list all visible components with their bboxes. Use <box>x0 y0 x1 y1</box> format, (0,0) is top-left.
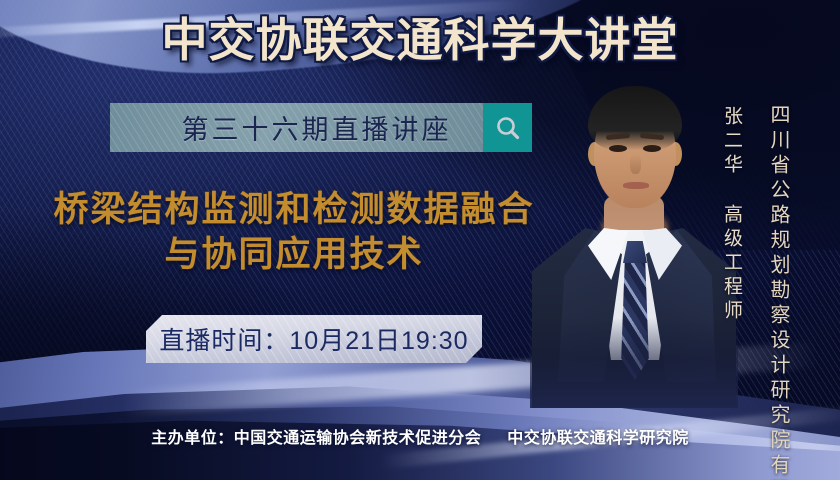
episode-banner-body: 第三十六期直播讲座 <box>110 103 483 152</box>
eye-left <box>609 145 627 152</box>
photo-bottom-fade <box>530 318 738 408</box>
webinar-poster: 中交协联交通科学大讲堂 第三十六期直播讲座 桥梁结构监测和检测数据融合 与协同应… <box>0 0 840 480</box>
topic-title-line-1: 桥梁结构监测和检测数据融合 <box>24 188 564 233</box>
broadcast-time-badge: 直播时间：10月21日19:30 <box>146 315 482 363</box>
footer-organizer-1: 中国交通运输协会新技术促进分会 <box>234 430 482 447</box>
speaker-name-and-title: 张二华 高级工程师 <box>718 106 745 324</box>
footer-organizers: 主办单位：中国交通运输协会新技术促进分会中交协联交通科学研究院 <box>0 424 840 448</box>
footer-organizer-2: 中交协联交通科学研究院 <box>507 430 689 447</box>
search-icon <box>494 114 522 142</box>
footer-prefix: 主办单位： <box>151 430 234 447</box>
search-button[interactable] <box>483 103 532 152</box>
episode-banner: 第三十六期直播讲座 <box>110 103 532 152</box>
mouth <box>623 182 649 189</box>
nose <box>630 154 641 174</box>
eye-right <box>643 145 661 152</box>
broadcast-time-text: 直播时间：10月21日19:30 <box>159 321 468 357</box>
episode-label: 第三十六期直播讲座 <box>142 108 452 147</box>
poster-headline: 中交协联交通科学大讲堂 <box>0 14 840 67</box>
hair-shape <box>588 86 682 150</box>
topic-title-line-2: 与协同应用技术 <box>24 233 564 278</box>
topic-title: 桥梁结构监测和检测数据融合 与协同应用技术 <box>24 188 564 278</box>
